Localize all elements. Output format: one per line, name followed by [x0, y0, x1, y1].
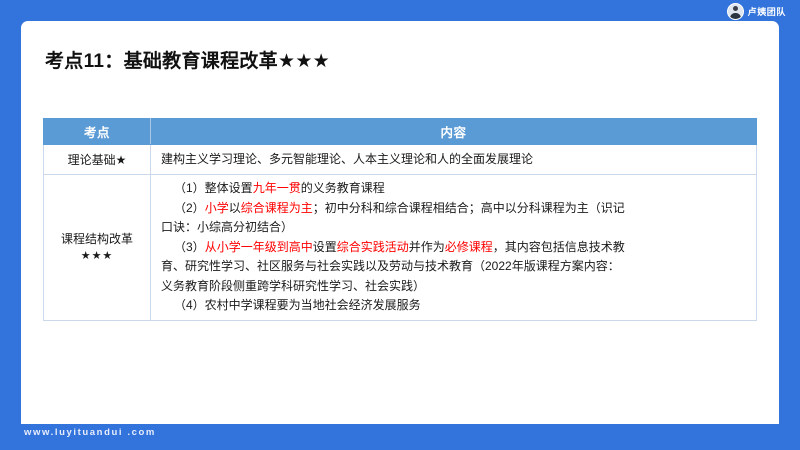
knowledge-point-label: 理论基础★	[68, 153, 127, 167]
content-line: （1）整体设置九年一贯的义务教育课程	[161, 179, 748, 198]
footer-website-url: www.luyituandui .com	[24, 427, 156, 438]
highlighted-text: 综合课程为主	[241, 201, 313, 215]
cell-knowledge-point: 课程结构改革★★★	[44, 175, 151, 320]
highlighted-text: 综合实践活动	[337, 240, 409, 254]
table-row: 理论基础★建构主义学习理论、多元智能理论、人本主义理论和人的全面发展理论	[44, 145, 757, 175]
importance-stars: ★★★	[46, 248, 148, 266]
highlighted-text: 九年一贯	[253, 181, 301, 195]
content-line: 建构主义学习理论、多元智能理论、人本主义理论和人的全面发展理论	[161, 150, 748, 169]
slide-root: 卢姨团队 考点11：基础教育课程改革★★★ 考点 内容 理论基础★建构主义学习理…	[0, 0, 800, 450]
highlighted-text: 小学	[205, 201, 229, 215]
cell-content: 建构主义学习理论、多元智能理论、人本主义理论和人的全面发展理论	[151, 145, 757, 175]
brand-logo: 卢姨团队	[727, 2, 786, 20]
content-text: 育、研究性学习、社区服务与社会实践以及劳动与技术教育（2022年版课程方案内容：	[161, 259, 620, 273]
content-card: 考点11：基础教育课程改革★★★ 考点 内容 理论基础★建构主义学习理论、多元智…	[21, 21, 779, 424]
page-title: 考点11：基础教育课程改革★★★	[45, 46, 330, 73]
content-line: 义务教育阶段侧重跨学科研究性学习、社会实践）	[161, 277, 748, 296]
content-text: 义务教育阶段侧重跨学科研究性学习、社会实践）	[161, 279, 425, 293]
content-line: （3）从小学一年级到高中设置综合实践活动并作为必修课程，其内容包括信息技术教	[161, 238, 748, 257]
table-header-row: 考点 内容	[44, 119, 757, 145]
content-text: （3）	[174, 240, 205, 254]
highlighted-text: 必修课程	[445, 240, 493, 254]
column-header-point: 考点	[44, 119, 151, 145]
content-text: 建构主义学习理论、多元智能理论、人本主义理论和人的全面发展理论	[161, 152, 533, 166]
content-line: 育、研究性学习、社区服务与社会实践以及劳动与技术教育（2022年版课程方案内容：	[161, 257, 748, 276]
cell-content: （1）整体设置九年一贯的义务教育课程（2）小学以综合课程为主；初中分科和综合课程…	[151, 175, 757, 320]
content-text: ；初中分科和综合课程相结合；高中以分科课程为主（识记	[313, 201, 625, 215]
knowledge-point-table: 考点 内容 理论基础★建构主义学习理论、多元智能理论、人本主义理论和人的全面发展…	[43, 118, 757, 321]
content-line: （4）农村中学课程要为当地社会经济发展服务	[161, 296, 748, 315]
content-line: （2）小学以综合课程为主；初中分科和综合课程相结合；高中以分科课程为主（识记	[161, 199, 748, 218]
table-body: 理论基础★建构主义学习理论、多元智能理论、人本主义理论和人的全面发展理论课程结构…	[44, 145, 757, 321]
brand-name: 卢姨团队	[748, 5, 786, 18]
content-text: （4）农村中学课程要为当地社会经济发展服务	[174, 298, 421, 312]
person-avatar-icon	[727, 3, 744, 20]
content-text: 设置	[313, 240, 337, 254]
cell-knowledge-point: 理论基础★	[44, 145, 151, 175]
highlighted-text: 从小学一年级到高中	[205, 240, 313, 254]
table-row: 课程结构改革★★★（1）整体设置九年一贯的义务教育课程（2）小学以综合课程为主；…	[44, 175, 757, 320]
knowledge-point-label: 课程结构改革	[61, 232, 133, 246]
column-header-content: 内容	[151, 119, 757, 145]
content-text: 并作为	[409, 240, 445, 254]
table-header: 考点 内容	[44, 119, 757, 145]
content-text: （1）整体设置	[174, 181, 253, 195]
content-text: （2）	[174, 201, 205, 215]
content-text: 口诀：小综高分初结合）	[161, 220, 293, 234]
content-text: 以	[229, 201, 241, 215]
content-text: ，其内容包括信息技术教	[493, 240, 625, 254]
content-line: 口诀：小综高分初结合）	[161, 218, 748, 237]
content-text: 的义务教育课程	[301, 181, 385, 195]
